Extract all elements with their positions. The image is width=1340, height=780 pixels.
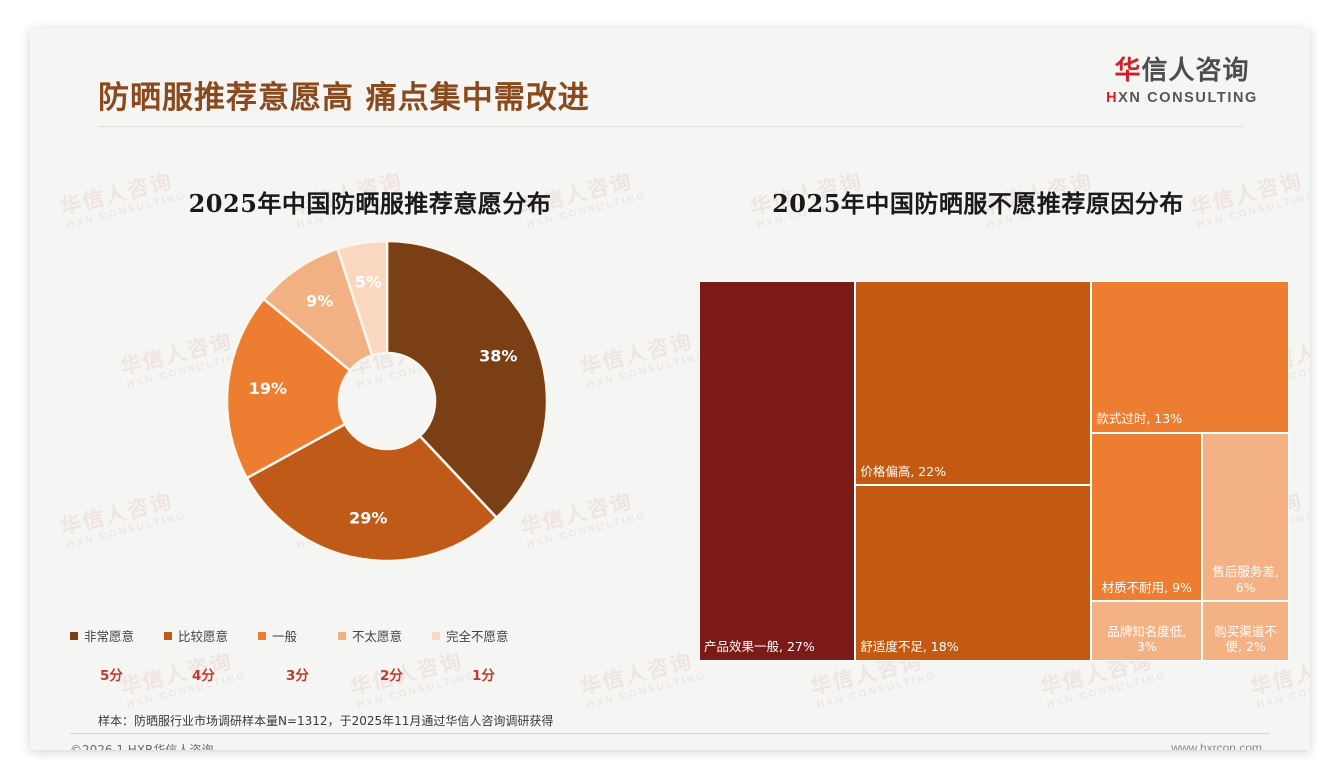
treemap-cell-label: 材质不耐用, 9% bbox=[1096, 580, 1197, 596]
donut-chart-title: 2025年中国防晒服推荐意愿分布 bbox=[70, 184, 670, 219]
legend-label: 完全不愿意 bbox=[446, 626, 509, 645]
score-label: 5分 bbox=[100, 664, 123, 684]
donut-svg: 38%29%19%9%5% bbox=[70, 229, 670, 589]
treemap-cell[interactable]: 价格偏高, 22% bbox=[855, 281, 1091, 485]
donut-slice-label: 9% bbox=[306, 292, 333, 311]
page-title: 防晒服推荐意愿高 痛点集中需改进 bbox=[98, 72, 590, 117]
legend-label: 非常愿意 bbox=[84, 626, 134, 645]
treemap-cell-label: 舒适度不足, 18% bbox=[860, 639, 1086, 655]
legend-swatch-icon bbox=[258, 632, 266, 640]
treemap-cell-label: 品牌知名度低, 3% bbox=[1096, 624, 1197, 655]
donut-slice-label: 19% bbox=[249, 379, 287, 398]
logo-en-h: H bbox=[1106, 90, 1118, 106]
treemap-cell[interactable]: 品牌知名度低, 3% bbox=[1091, 601, 1202, 661]
legend-label: 一般 bbox=[272, 626, 297, 645]
legend-item[interactable]: 非常愿意 bbox=[70, 626, 134, 645]
treemap-chart-title: 2025年中国防晒服不愿推荐原因分布 bbox=[678, 184, 1278, 219]
title-divider bbox=[98, 126, 1243, 127]
legend-item[interactable]: 完全不愿意 bbox=[432, 626, 509, 645]
website-url: www.hxrcon.com bbox=[1171, 741, 1262, 750]
score-label: 4分 bbox=[192, 664, 215, 684]
donut-chart: 38%29%19%9%5% bbox=[70, 229, 670, 589]
score-label: 1分 bbox=[472, 664, 495, 684]
legend-item[interactable]: 比较愿意 bbox=[164, 626, 228, 645]
legend-swatch-icon bbox=[70, 632, 78, 640]
treemap-cell-label: 购买渠道不便, 2% bbox=[1207, 624, 1284, 655]
logo-chinese-text: 华信人咨询 bbox=[1092, 57, 1272, 86]
treemap-chart-panel: 2025年中国防晒服不愿推荐原因分布 产品效果一般, 27%价格偏高, 22%舒… bbox=[678, 156, 1278, 696]
logo-english-text: HXN CONSULTING bbox=[1092, 90, 1272, 106]
treemap-cell-label: 款式过时, 13% bbox=[1096, 411, 1284, 427]
legend-swatch-icon bbox=[432, 632, 440, 640]
legend-swatch-icon bbox=[338, 632, 346, 640]
logo-en-rest: XN CONSULTING bbox=[1118, 90, 1258, 106]
footer-divider bbox=[70, 733, 1270, 734]
treemap-cell[interactable]: 舒适度不足, 18% bbox=[855, 485, 1091, 661]
donut-legend: 非常愿意比较愿意一般不太愿意完全不愿意 bbox=[70, 626, 670, 646]
source-note: 样本：防晒服行业市场调研样本量N=1312，于2025年11月通过华信人咨询调研… bbox=[98, 712, 553, 729]
logo-char-hua: 华 bbox=[1114, 56, 1141, 86]
legend-item[interactable]: 一般 bbox=[258, 626, 297, 645]
treemap-cell[interactable]: 购买渠道不便, 2% bbox=[1202, 601, 1289, 661]
treemap-cell-label: 售后服务差, 6% bbox=[1207, 564, 1284, 595]
treemap-cell[interactable]: 产品效果一般, 27% bbox=[699, 281, 855, 661]
treemap: 产品效果一般, 27%价格偏高, 22%舒适度不足, 18%款式过时, 13%材… bbox=[699, 281, 1289, 661]
score-label: 2分 bbox=[380, 664, 403, 684]
slide-header: 防晒服推荐意愿高 痛点集中需改进 华信人咨询 HXN CONSULTING bbox=[30, 28, 1310, 138]
donut-slice-label: 5% bbox=[355, 272, 382, 291]
treemap-cell[interactable]: 售后服务差, 6% bbox=[1202, 433, 1289, 601]
copyright-text: ©2026.1 HXR华信人咨询 bbox=[70, 741, 213, 750]
treemap-cell-label: 价格偏高, 22% bbox=[860, 464, 1086, 480]
donut-slice-label: 29% bbox=[349, 509, 387, 528]
company-logo: 华信人咨询 HXN CONSULTING bbox=[1092, 57, 1272, 106]
donut-score-row: 5分4分3分2分1分 bbox=[70, 664, 670, 684]
legend-item[interactable]: 不太愿意 bbox=[338, 626, 402, 645]
score-label: 3分 bbox=[286, 664, 309, 684]
donut-chart-panel: 2025年中国防晒服推荐意愿分布 38%29%19%9%5% 非常愿意比较愿意一… bbox=[70, 156, 670, 696]
treemap-cell[interactable]: 材质不耐用, 9% bbox=[1091, 433, 1202, 601]
legend-label: 比较愿意 bbox=[178, 626, 228, 645]
treemap-cell-label: 产品效果一般, 27% bbox=[704, 639, 850, 655]
donut-slice-label: 38% bbox=[479, 346, 517, 365]
legend-swatch-icon bbox=[164, 632, 172, 640]
logo-chinese-rest: 信人咨询 bbox=[1142, 56, 1250, 86]
slide-card: 华信人咨询HXN CONSULTING华信人咨询HXN CONSULTING华信… bbox=[30, 28, 1310, 750]
treemap-cell[interactable]: 款式过时, 13% bbox=[1091, 281, 1289, 433]
legend-label: 不太愿意 bbox=[352, 626, 402, 645]
